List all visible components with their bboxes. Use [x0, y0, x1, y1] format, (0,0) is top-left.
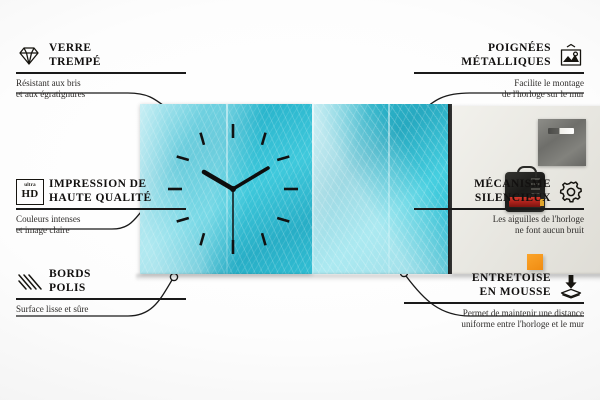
metal-hanger-plate — [538, 119, 586, 166]
feature-impression-haute-qualite: ultra HD IMPRESSION DE HAUTE QUALITÉ Cou… — [16, 178, 186, 237]
feature-title: POIGNÉES MÉTALLIQUES — [461, 42, 551, 69]
feature-subtitle: Surface lisse et sûre — [16, 304, 186, 316]
foam-spacer-icon — [558, 273, 584, 299]
divider — [16, 208, 186, 209]
divider — [404, 302, 584, 303]
divider — [16, 72, 186, 73]
feature-subtitle: Permet de maintenir une distance uniform… — [404, 308, 584, 332]
feature-subtitle: Couleurs intenses et image claire — [16, 214, 186, 238]
polished-edges-icon — [16, 269, 42, 295]
feature-title: IMPRESSION DE HAUTE QUALITÉ — [49, 178, 152, 205]
mechanism-hook — [517, 166, 537, 177]
feature-entretoise-en-mousse: ENTRETOISE EN MOUSSE Permet de maintenir… — [404, 272, 584, 331]
clock-minute-hand — [233, 168, 268, 189]
feature-title: BORDS POLIS — [49, 268, 91, 295]
feature-bords-polis: BORDS POLIS Surface lisse et sûre — [16, 268, 186, 315]
panel-seam-2 — [312, 104, 314, 274]
picture-hanger-icon — [558, 43, 584, 69]
gear-icon — [558, 179, 584, 205]
clock-center-cap — [230, 186, 236, 192]
orange-foam-spacer — [527, 254, 543, 270]
hanger-keyhole-slot — [548, 128, 574, 134]
feature-subtitle: Les aiguilles de l'horloge ne font aucun… — [414, 214, 584, 238]
diamond-icon — [16, 43, 42, 69]
feature-subtitle: Résistant aux bris et aux égratignures — [16, 78, 186, 102]
feature-poignees-metalliques: POIGNÉES MÉTALLIQUES Facilite le montage… — [414, 42, 584, 101]
hd-label: HD — [22, 189, 39, 200]
panel-seam-3 — [388, 104, 390, 274]
ultra-hd-icon: ultra HD — [16, 179, 42, 205]
divider — [414, 208, 584, 209]
feature-title: MÉCANISME SILENCIEUX — [474, 178, 551, 205]
feature-subtitle: Facilite le montage de l'horloge sur le … — [414, 78, 584, 102]
infographic-stage: VERRE TREMPÉ Résistant aux bris et aux é… — [0, 0, 600, 400]
divider — [16, 298, 186, 299]
feature-mecanisme-silencieux: MÉCANISME SILENCIEUX Les aiguilles de l'… — [414, 178, 584, 237]
feature-verre-trempe: VERRE TREMPÉ Résistant aux bris et aux é… — [16, 42, 186, 101]
clock-hour-hand — [204, 172, 233, 189]
divider — [414, 72, 584, 73]
feature-title: VERRE TREMPÉ — [49, 42, 101, 69]
feature-title: ENTRETOISE EN MOUSSE — [472, 272, 551, 299]
